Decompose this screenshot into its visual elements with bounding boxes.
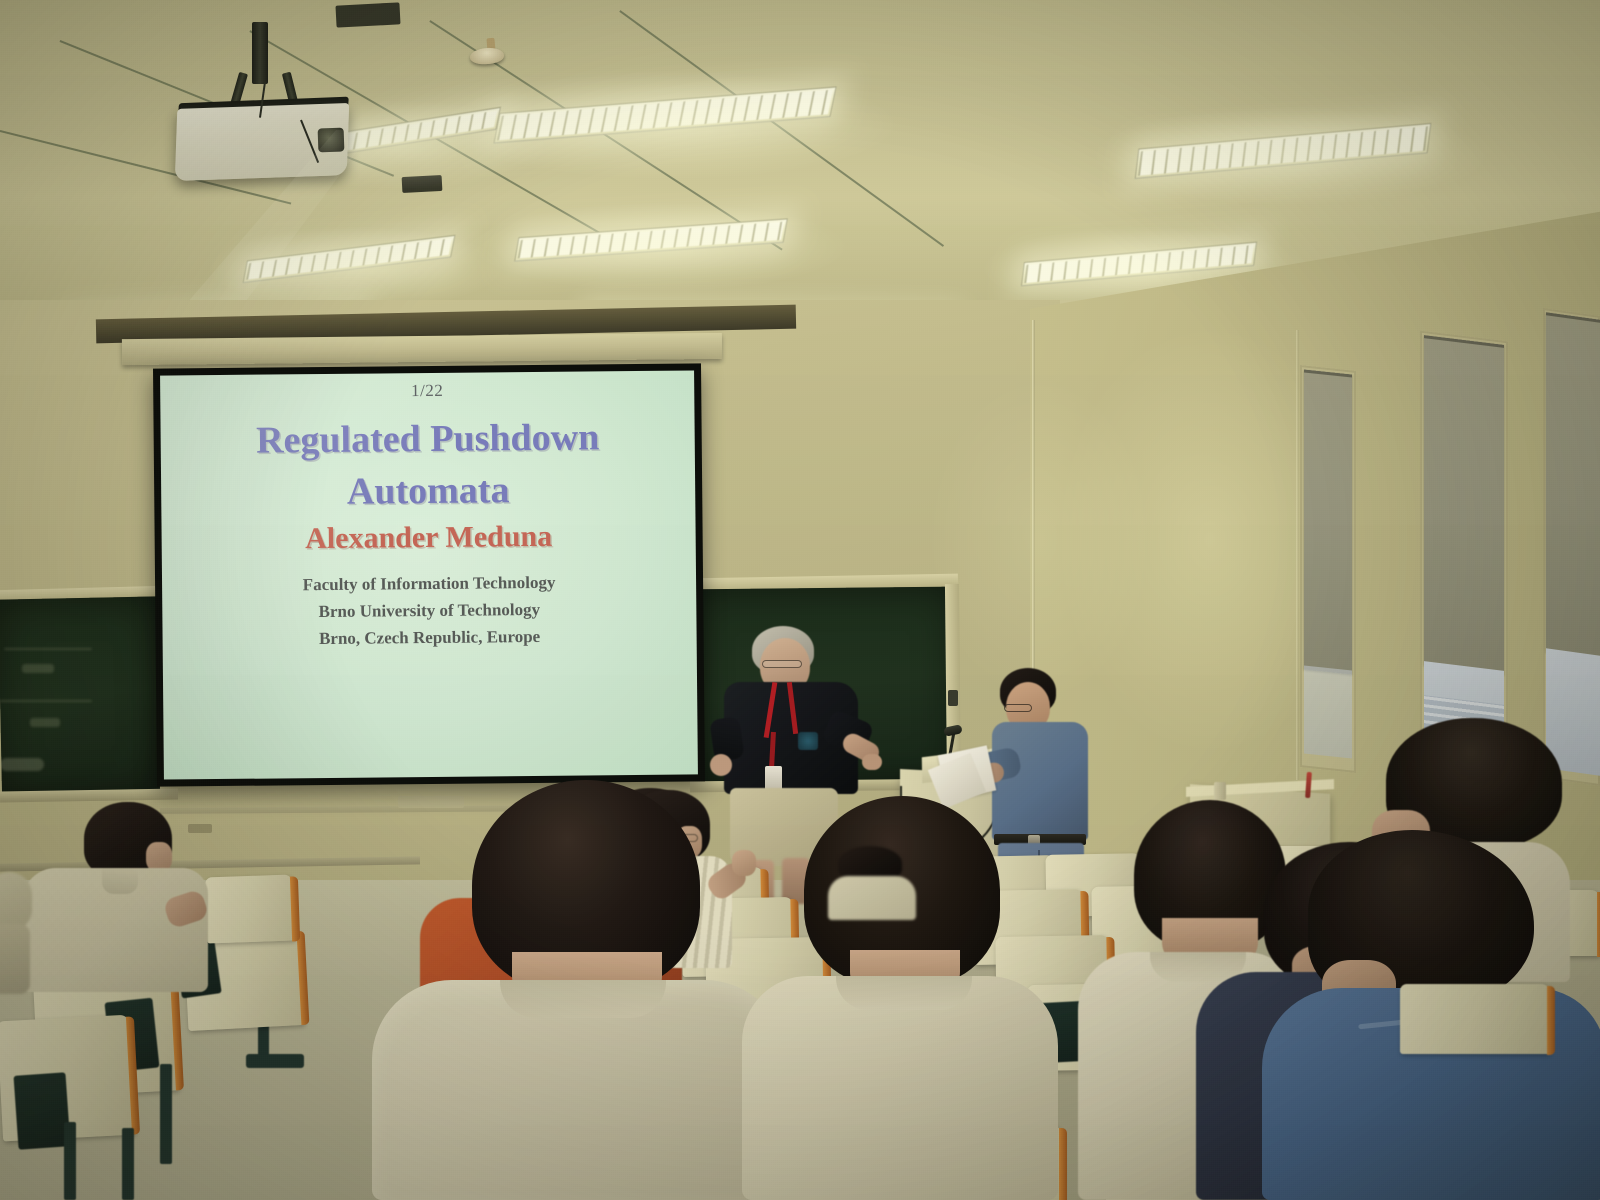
lecture-seat[interactable]	[1400, 984, 1550, 1054]
student-shirt	[828, 876, 916, 920]
student-shirt	[0, 872, 32, 932]
student-far-left-partial	[0, 872, 40, 992]
seat-frame	[122, 1128, 134, 1200]
chalk-writing	[22, 664, 54, 673]
shirt-collar	[500, 980, 666, 1018]
presenter-hand	[862, 754, 882, 770]
slide-page-indicator: 1/22	[160, 378, 694, 403]
ceiling-vent	[335, 2, 400, 27]
slide-author: Alexander Meduna	[181, 519, 675, 558]
slide-affiliation: Faculty of Information Technology Brno U…	[182, 569, 677, 654]
student-hair	[838, 846, 902, 880]
lecture-seat[interactable]	[205, 874, 295, 943]
presenter-hand-left	[710, 754, 732, 776]
glasses-icon	[1004, 704, 1032, 712]
shirt-logo	[798, 732, 818, 750]
screen-surface: 1/22 Regulated Pushdown Automata Alexand…	[160, 370, 698, 779]
glasses-icon	[762, 660, 802, 668]
projector-lens-icon	[318, 128, 345, 153]
student-shirt	[0, 924, 30, 994]
student-front-center	[372, 780, 792, 1200]
folding-tablet-arm[interactable]	[13, 1072, 70, 1149]
window-roller-blind[interactable]	[1304, 369, 1352, 674]
wall-corner-edge	[1296, 330, 1299, 780]
student-left-polo	[18, 802, 214, 1002]
chalk-writing	[4, 648, 92, 650]
ceiling-vent	[402, 175, 443, 193]
shirt-collar	[836, 976, 972, 1010]
seat-frame	[160, 1064, 172, 1164]
slide-affiliation-line-3: Brno, Czech Republic, Europe	[182, 622, 676, 654]
slide-title-line-1: Regulated Pushdown	[180, 411, 674, 468]
chalk-writing	[0, 758, 44, 771]
seat-foot	[246, 1054, 304, 1068]
student-back-center	[828, 846, 920, 916]
window-glass	[1304, 665, 1352, 758]
slide-title-line-2: Automata	[181, 463, 675, 520]
chalk-writing	[0, 700, 92, 702]
chalk-writing	[30, 718, 60, 727]
slide-title: Regulated Pushdown Automata	[180, 411, 675, 521]
shirt-collar	[102, 868, 138, 894]
board-clip	[948, 690, 958, 706]
projector-ceiling-mount	[252, 22, 268, 84]
seat-frame	[64, 1122, 76, 1200]
projection-screen: 1/22 Regulated Pushdown Automata Alexand…	[153, 363, 705, 786]
lecture-hall-photo: 1/22 Regulated Pushdown Automata Alexand…	[0, 0, 1600, 1200]
beverage-can	[1214, 782, 1226, 800]
window-roller-blind[interactable]	[1424, 335, 1504, 675]
window-roller-blind[interactable]	[1546, 312, 1600, 660]
